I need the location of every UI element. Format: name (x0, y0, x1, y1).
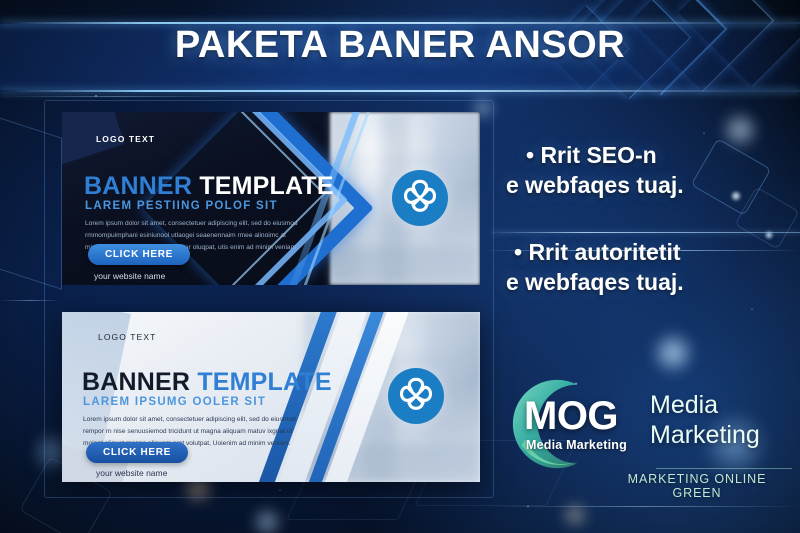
benefits-list: • Rrit SEO-n e webfaqes tuaj. • Rrit aut… (500, 140, 792, 319)
bullet-line-1: • Rrit SEO-n (500, 140, 792, 170)
brand-name-line2: Marketing (650, 420, 760, 450)
clover-badge-icon (388, 368, 444, 424)
banner-heading-word1: BANNER (82, 368, 190, 396)
poster-canvas: PAKETA BANER ANSOR LOGO TEXT BANNER TEMP… (0, 0, 800, 533)
bullet-divider (492, 232, 800, 233)
frame-decor (0, 98, 62, 290)
brand-name-line1: Media (650, 390, 760, 420)
banner-heading: BANNER TEMPLATE (84, 172, 334, 201)
list-item: • Rrit autoritetit e webfaqes tuaj. (500, 237, 792, 298)
banner-logo-text: LOGO TEXT (98, 332, 156, 342)
list-item: • Rrit SEO-n e webfaqes tuaj. (500, 140, 792, 201)
banner-subtitle: LAREM PESTIING POLOF SIT (85, 200, 278, 212)
click-here-button[interactable]: CLICK HERE (88, 244, 190, 265)
bullet-line-1: • Rrit autoritetit (500, 237, 792, 267)
page-title: PAKETA BANER ANSOR (0, 24, 800, 67)
brand-divider (656, 468, 792, 469)
brand-logo: MOG Media Marketing Media Marketing MARK… (506, 372, 792, 490)
brand-mark-subtext: Media Marketing (526, 438, 627, 452)
glow-line (490, 506, 800, 507)
glow-line (0, 96, 230, 97)
bokeh-light (650, 330, 696, 376)
banner-website-text: your website name (96, 468, 167, 478)
glow-line (0, 300, 60, 301)
bokeh-light (250, 505, 284, 533)
band-bottom-edge (0, 90, 800, 92)
clover-badge-icon (392, 170, 448, 226)
banner-logo-text: LOGO TEXT (96, 134, 155, 144)
banner-card-dark[interactable]: LOGO TEXT BANNER TEMPLATE LAREM PESTIING… (62, 112, 480, 285)
banner-website-text: your website name (94, 271, 165, 281)
brand-mark-text: MOG (524, 394, 618, 439)
bullet-line-2: e webfaqes tuaj. (500, 267, 792, 297)
bullet-line-2: e webfaqes tuaj. (500, 170, 792, 200)
banner-card-light[interactable]: LOGO TEXT BANNER TEMPLATE LAREM IPSUMG O… (62, 312, 480, 482)
banner-heading-word1: BANNER (84, 172, 192, 200)
click-here-button[interactable]: CLICK HERE (86, 442, 188, 463)
bokeh-light (560, 500, 590, 530)
brand-name: Media Marketing (650, 390, 760, 450)
banner-heading-word2: TEMPLATE (197, 368, 331, 396)
banner-heading-word2: TEMPLATE (199, 172, 333, 200)
banner-subtitle: LAREM IPSUMG OOLER SIT (83, 396, 266, 408)
banner-heading: BANNER TEMPLATE (82, 368, 332, 397)
brand-tagline: MARKETING ONLINE GREEN (602, 472, 792, 500)
